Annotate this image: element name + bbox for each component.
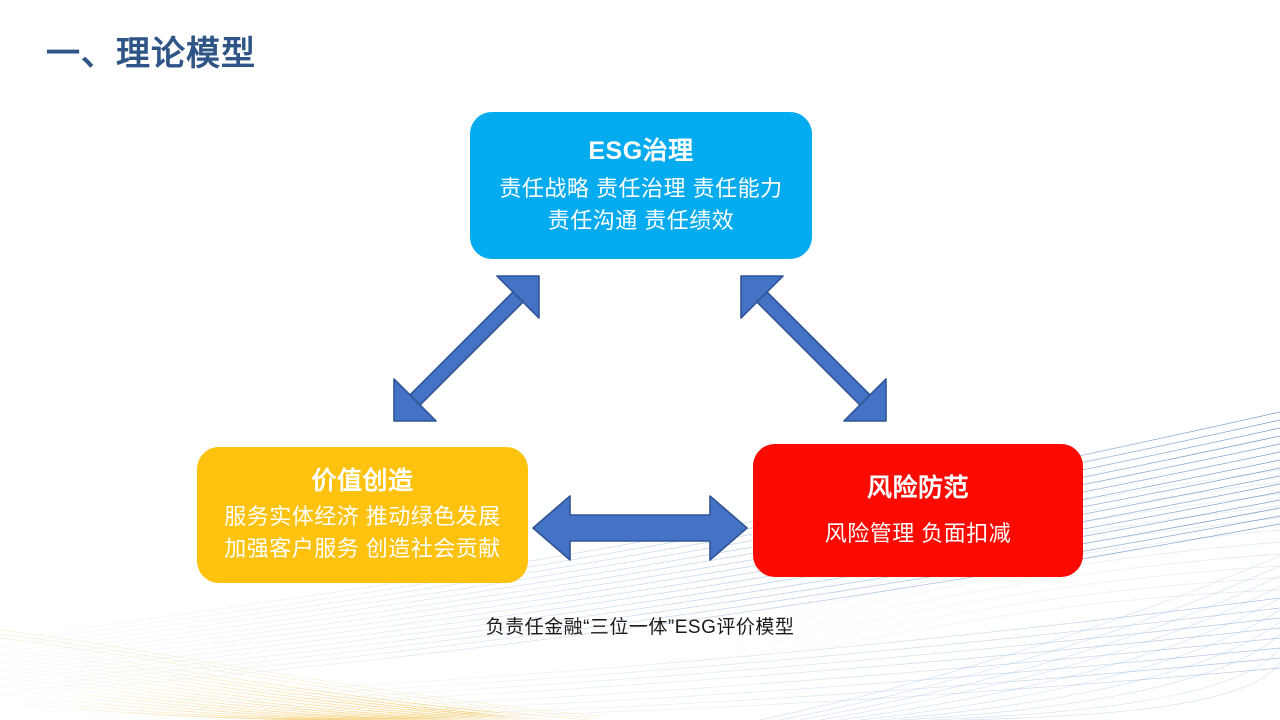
node-risk-prevention[interactable]: 风险防范 风险管理 负面扣减 (753, 444, 1083, 577)
node-value-line-1: 服务实体经济 推动绿色发展 (224, 501, 501, 533)
arrow-value-to-risk (533, 496, 747, 560)
node-risk-line-1: 风险管理 负面扣减 (825, 518, 1012, 550)
diagram-caption: 负责任金融“三位一体”ESG评价模型 (0, 612, 1280, 639)
node-esg-line-2: 责任沟通 责任绩效 (548, 205, 735, 237)
node-esg-line-1: 责任战略 责任治理 责任能力 (499, 173, 782, 205)
slide-canvas: 一、理论模型 ESG治理 责任战略 责任治理 责任能力 责任沟通 责任绩效 价值… (0, 0, 1280, 720)
node-value-heading: 价值创造 (311, 465, 413, 497)
arrow-esg-to-risk (741, 276, 886, 421)
node-value-line-2: 加强客户服务 创造社会贡献 (224, 533, 501, 565)
node-esg-governance[interactable]: ESG治理 责任战略 责任治理 责任能力 责任沟通 责任绩效 (470, 112, 812, 259)
node-esg-heading: ESG治理 (588, 135, 693, 167)
page-title: 一、理论模型 (46, 26, 256, 75)
node-risk-heading: 风险防范 (867, 472, 969, 504)
arrow-value-to-esg (394, 276, 539, 421)
node-value-creation[interactable]: 价值创造 服务实体经济 推动绿色发展 加强客户服务 创造社会贡献 (197, 447, 528, 583)
